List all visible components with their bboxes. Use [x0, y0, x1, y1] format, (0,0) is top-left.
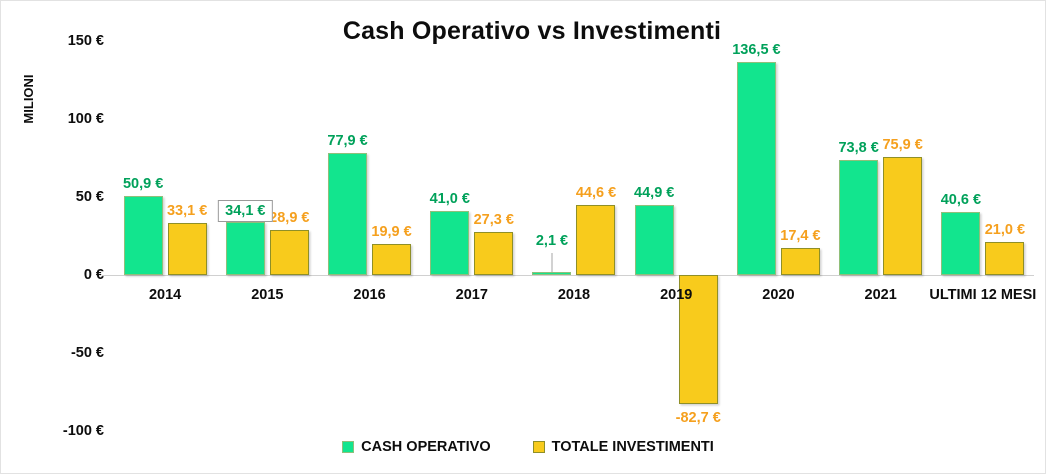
bar-group: 50,9 €33,1 € [114, 41, 216, 431]
bar-totale-investimenti[interactable] [576, 205, 615, 275]
label-leader-line [551, 253, 552, 272]
y-axis-tick: -50 € [71, 345, 104, 361]
chart-legend: CASH OPERATIVOTOTALE INVESTIMENTI [1, 439, 1045, 455]
bar-cash-operativo[interactable] [430, 211, 469, 275]
bar-cash-operativo[interactable] [226, 222, 265, 275]
bar-cash-operativo[interactable] [124, 196, 163, 275]
x-axis-label: ULTIMI 12 MESI [923, 286, 1043, 306]
data-label[interactable]: 44,6 € [576, 185, 616, 201]
y-axis-tick: 0 € [84, 267, 104, 283]
bar-group: 2,1 €44,6 € [523, 41, 625, 431]
bar-cash-operativo[interactable] [737, 62, 776, 275]
data-label[interactable]: 40,6 € [941, 192, 981, 208]
data-label[interactable]: 19,9 € [371, 224, 411, 240]
bar-cash-operativo[interactable] [532, 272, 571, 275]
data-label[interactable]: 77,9 € [327, 133, 367, 149]
data-label[interactable]: 27,3 € [474, 212, 514, 228]
data-label[interactable]: 136,5 € [732, 42, 780, 58]
bar-totale-investimenti[interactable] [985, 242, 1024, 275]
y-axis-tick: -100 € [63, 423, 104, 439]
y-axis-title-label: MILIONI [21, 39, 36, 159]
bar-cash-operativo[interactable] [635, 205, 674, 275]
bar-group: 44,9 €-82,7 € [625, 41, 727, 431]
data-label[interactable]: 73,8 € [838, 140, 878, 156]
legend-label: TOTALE INVESTIMENTI [552, 439, 714, 455]
y-axis-tick: 150 € [68, 33, 104, 49]
data-label[interactable]: 28,9 € [269, 210, 309, 226]
bar-totale-investimenti[interactable] [372, 244, 411, 275]
data-label[interactable]: 21,0 € [985, 222, 1025, 238]
bar-group: 40,6 €21,0 € [932, 41, 1034, 431]
legend-swatch-icon [342, 441, 354, 453]
data-label[interactable]: 41,0 € [430, 191, 470, 207]
data-label[interactable]: 75,9 € [882, 137, 922, 153]
data-label[interactable]: 2,1 € [536, 233, 568, 249]
bar-totale-investimenti[interactable] [168, 223, 207, 275]
data-label[interactable]: 34,1 € [218, 200, 272, 222]
bar-totale-investimenti[interactable] [883, 157, 922, 275]
y-axis-title: MILIONI [21, 0, 39, 39]
data-label[interactable]: 33,1 € [167, 203, 207, 219]
bar-cash-operativo[interactable] [839, 160, 878, 275]
bar-group: 34,1 €28,9 € [216, 41, 318, 431]
legend-item[interactable]: CASH OPERATIVO [342, 439, 490, 455]
bar-totale-investimenti[interactable] [474, 232, 513, 275]
legend-item[interactable]: TOTALE INVESTIMENTI [533, 439, 714, 455]
bar-group: 136,5 €17,4 € [727, 41, 829, 431]
legend-swatch-icon [533, 441, 545, 453]
bar-group: 77,9 €19,9 € [318, 41, 420, 431]
bar-group: 73,8 €75,9 € [830, 41, 932, 431]
data-label[interactable]: 17,4 € [780, 228, 820, 244]
bar-totale-investimenti[interactable] [781, 248, 820, 275]
data-label[interactable]: -82,7 € [676, 410, 721, 426]
data-label[interactable]: 50,9 € [123, 176, 163, 192]
legend-label: CASH OPERATIVO [361, 439, 490, 455]
bar-totale-investimenti[interactable] [270, 230, 309, 275]
y-axis-tick: 50 € [76, 189, 104, 205]
bar-cash-operativo[interactable] [328, 153, 367, 275]
y-axis-tick: 100 € [68, 111, 104, 127]
plot-area: 150 €100 €50 €0 €-50 €-100 € 50,9 €33,1 … [114, 41, 1034, 431]
chart-container: Cash Operativo vs Investimenti MILIONI 1… [0, 0, 1046, 474]
bar-group: 41,0 €27,3 € [421, 41, 523, 431]
bar-cash-operativo[interactable] [941, 212, 980, 275]
data-label[interactable]: 44,9 € [634, 185, 674, 201]
